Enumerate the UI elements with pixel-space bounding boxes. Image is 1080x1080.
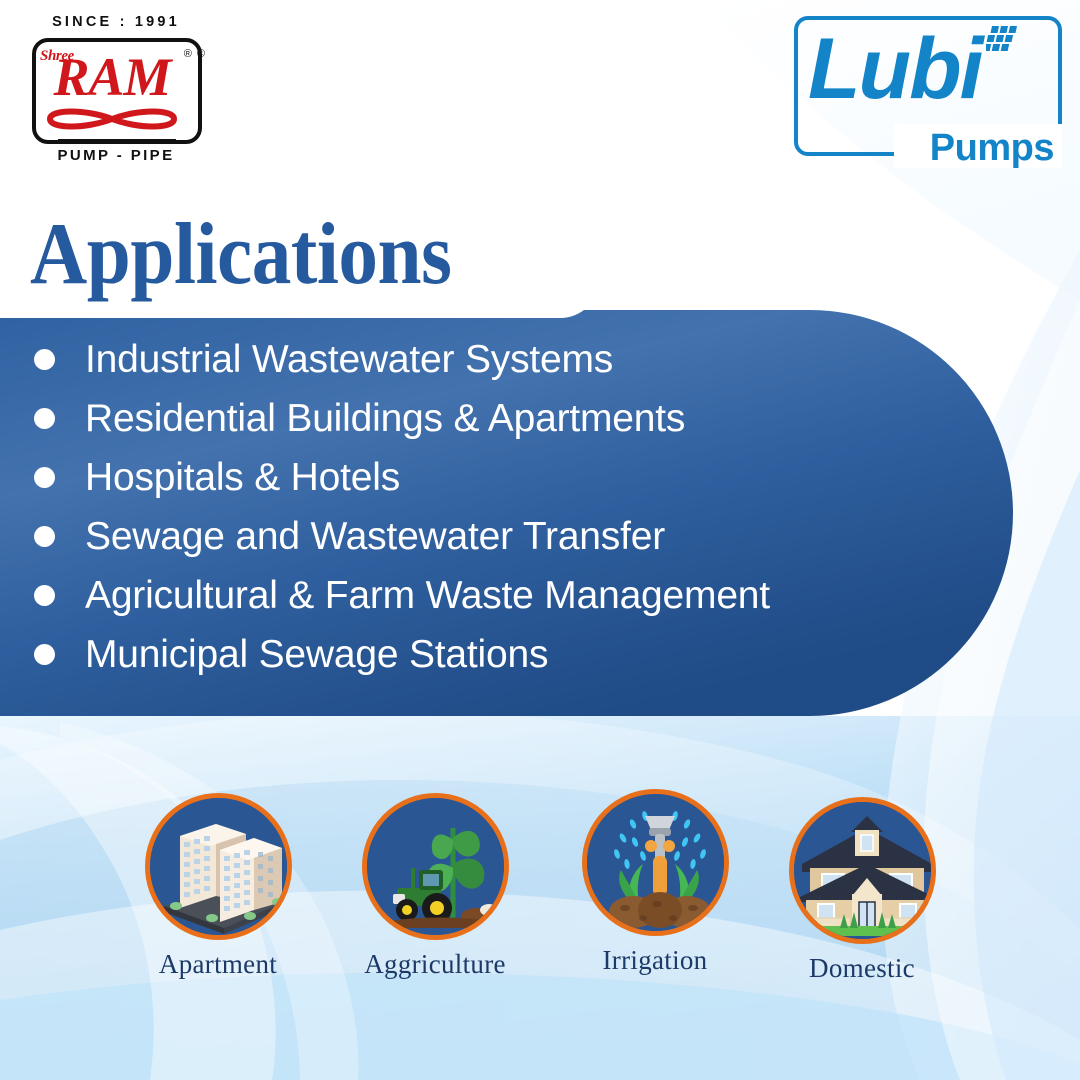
ram-infinity-loop-icon	[46, 106, 178, 132]
list-item-label: Residential Buildings & Apartments	[85, 397, 685, 441]
bullet-dot-icon	[34, 644, 55, 665]
applications-list: Industrial Wastewater Systems Residentia…	[0, 330, 980, 684]
lubi-pumps-logo: Lubi Pumps	[794, 16, 1062, 168]
list-item-label: Industrial Wastewater Systems	[85, 338, 613, 382]
bullet-dot-icon	[34, 526, 55, 547]
lubi-wordmark-text: Lubi	[808, 24, 982, 114]
list-item: Industrial Wastewater Systems	[0, 330, 980, 389]
bullet-dot-icon	[34, 349, 55, 370]
poster-canvas: Applications Industrial Wastewater Syste…	[0, 0, 1080, 1080]
bullet-dot-icon	[34, 408, 55, 429]
segment-label: Aggriculture	[345, 949, 525, 980]
list-item: Sewage and Wastewater Transfer	[0, 507, 980, 566]
segment-label: Irrigation	[565, 945, 745, 976]
segment-agriculture[interactable]: Aggriculture	[345, 793, 525, 980]
list-item-label: Municipal Sewage Stations	[85, 633, 548, 677]
list-item: Residential Buildings & Apartments	[0, 389, 980, 448]
ram-divider	[58, 139, 176, 144]
segment-icon-row: Apartment	[0, 793, 1080, 1023]
list-item-label: Agricultural & Farm Waste Management	[85, 574, 770, 618]
tractor-plant-icon	[362, 793, 509, 940]
bullet-dot-icon	[34, 467, 55, 488]
ram-name-text: RAM	[42, 52, 182, 104]
house-icon	[789, 797, 936, 944]
ram-trademark-text: ® ©	[184, 48, 206, 60]
list-item: Hospitals & Hotels	[0, 448, 980, 507]
apartment-buildings-icon	[145, 793, 292, 940]
lubi-grid-dots-icon	[986, 26, 1020, 56]
ram-since-text: SINCE : 1991	[14, 14, 218, 30]
shree-ram-logo: SINCE : 1991 Shree RAM ® © PUMP - PIPE	[14, 14, 218, 166]
list-item: Municipal Sewage Stations	[0, 625, 980, 684]
lubi-subtitle-text: Pumps	[930, 127, 1054, 170]
page-title: Applications	[30, 204, 452, 305]
sprinkler-icon	[582, 789, 729, 936]
segment-domestic[interactable]: Domestic	[772, 797, 952, 984]
segment-apartment[interactable]: Apartment	[128, 793, 308, 980]
segment-label: Domestic	[772, 953, 952, 984]
list-item-label: Sewage and Wastewater Transfer	[85, 515, 665, 559]
list-item-label: Hospitals & Hotels	[85, 456, 400, 500]
bullet-dot-icon	[34, 585, 55, 606]
ram-tagline-text: PUMP - PIPE	[14, 147, 218, 164]
list-item: Agricultural & Farm Waste Management	[0, 566, 980, 625]
segment-irrigation[interactable]: Irrigation	[565, 789, 745, 976]
segment-label: Apartment	[128, 949, 308, 980]
